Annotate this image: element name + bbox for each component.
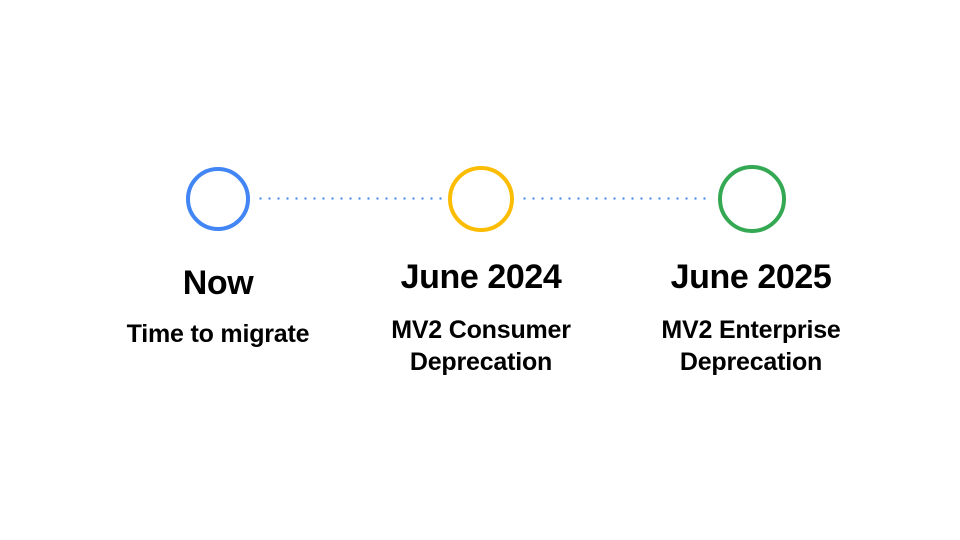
milestone-description-june-2024-line-1: MV2 Consumer [361, 314, 601, 346]
milestone-marker-june-2025 [718, 165, 786, 233]
timeline-connector-now-to-june-2024 [256, 197, 442, 200]
milestone-description-june-2025-line-1: MV2 Enterprise [631, 314, 871, 346]
milestone-description-june-2025: MV2 Enterprise Deprecation [631, 298, 871, 378]
milestone-marker-june-2024 [448, 166, 514, 232]
milestone-title-june-2024: June 2024 [361, 256, 601, 298]
milestone-label-now: Now Time to migrate [98, 262, 338, 350]
timeline-diagram: Now Time to migrate June 2024 MV2 Consum… [0, 0, 960, 540]
milestone-title-june-2025: June 2025 [631, 256, 871, 298]
milestone-marker-now [186, 167, 250, 231]
milestone-description-june-2024-line-2: Deprecation [361, 346, 601, 378]
milestone-label-june-2024: June 2024 MV2 Consumer Deprecation [361, 256, 601, 378]
milestone-description-now: Time to migrate [98, 304, 338, 350]
milestone-description-june-2024: MV2 Consumer Deprecation [361, 298, 601, 378]
milestone-title-now: Now [98, 262, 338, 304]
milestone-label-june-2025: June 2025 MV2 Enterprise Deprecation [631, 256, 871, 378]
milestone-description-june-2025-line-2: Deprecation [631, 346, 871, 378]
timeline-connector-june-2024-to-june-2025 [520, 197, 712, 200]
